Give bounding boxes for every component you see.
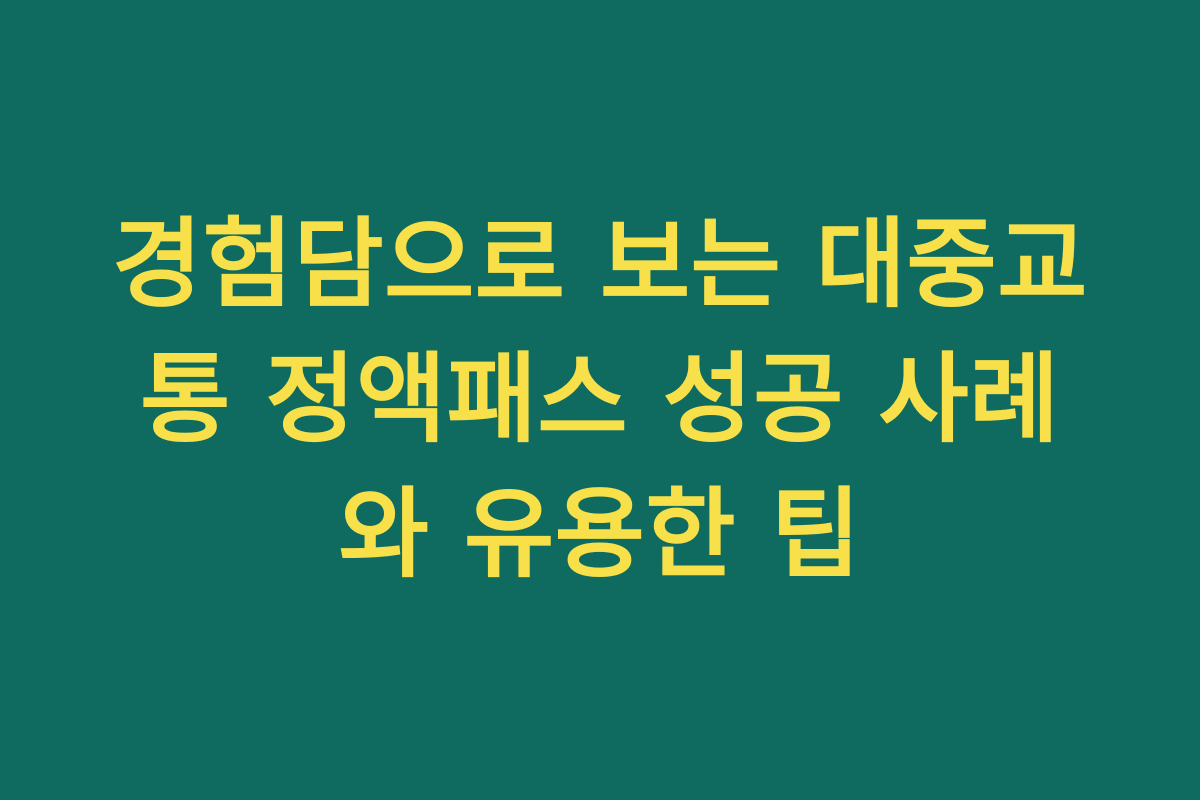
page-title: 경험담으로 보는 대중교 통 정액패스 성공 사례 와 유용한 팁 [70, 198, 1130, 603]
title-card: 경험담으로 보는 대중교 통 정액패스 성공 사례 와 유용한 팁 [0, 0, 1200, 800]
title-line-1: 경험담으로 보는 대중교 [90, 198, 1110, 333]
title-line-2: 통 정액패스 성공 사례 [90, 333, 1110, 468]
title-line-3: 와 유용한 팁 [90, 468, 1110, 603]
